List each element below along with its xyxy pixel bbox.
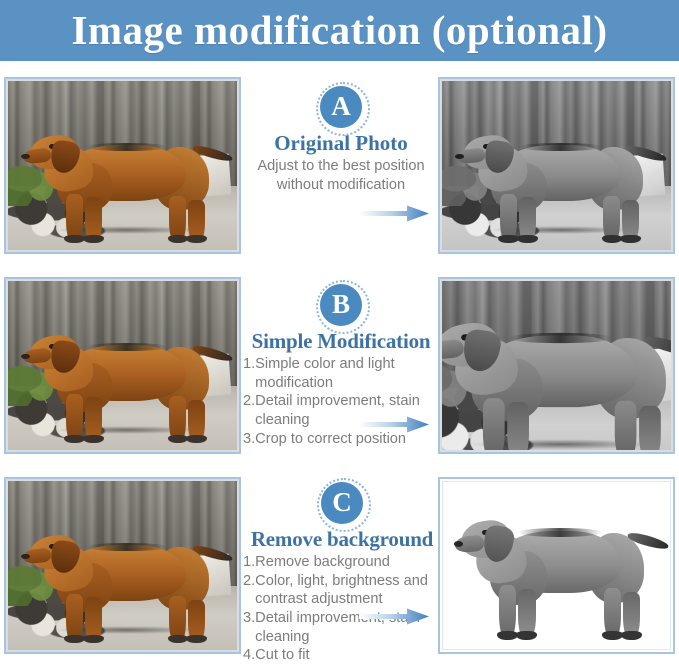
badge-a: A — [243, 84, 439, 130]
page-title: Image modification (optional) — [71, 10, 607, 51]
result-photo-c — [438, 477, 675, 654]
dachshund-illustration — [29, 125, 217, 237]
original-photo-c — [4, 477, 241, 654]
list-item-number: 2. — [243, 392, 255, 411]
list-item-number: 3. — [243, 609, 255, 628]
list-item-number: 3. — [243, 430, 255, 449]
list-item-text: Color, light, brightness and contrast ad… — [255, 572, 441, 609]
list-item-number: 1. — [243, 355, 255, 374]
body-line: without modification — [243, 176, 439, 195]
list-item: 4. Cut to fit — [243, 646, 441, 665]
section-text-c: C Remove background 1. Remove background… — [243, 480, 441, 665]
list-item-text: Remove background — [255, 553, 441, 572]
badge-ring-icon — [316, 280, 370, 334]
dachshund-illustration — [29, 325, 217, 437]
result-photo-b — [438, 277, 675, 454]
dachshund-cutout-no-background — [461, 509, 652, 633]
section-text-a: A Original Photo Adjust to the best posi… — [243, 84, 439, 194]
list-item-number: 4. — [243, 646, 255, 665]
right-arrow-icon-a — [359, 205, 429, 222]
right-arrow-icon-b — [359, 416, 429, 433]
list-item: 2. Color, light, brightness and contrast… — [243, 572, 441, 609]
body-line: Adjust to the best position — [243, 157, 439, 176]
badge-b: B — [243, 282, 439, 328]
dachshund-illustration — [29, 525, 217, 637]
badge-c: C — [243, 480, 441, 526]
dachshund-illustration-gray — [463, 125, 651, 237]
right-arrow-icon-c — [359, 608, 429, 625]
list-item-text: Simple color and light modification — [255, 355, 439, 392]
badge-ring-icon — [317, 478, 371, 532]
list-item: 1. Simple color and light modification — [243, 355, 439, 392]
list-item: 1. Remove background — [243, 553, 441, 572]
section-list-b: 1. Simple color and light modification 2… — [243, 355, 439, 448]
page-header-banner: Image modification (optional) — [0, 0, 679, 61]
list-item-number: 1. — [243, 553, 255, 572]
original-photo-a — [4, 77, 241, 254]
section-body-a: Adjust to the best position without modi… — [243, 157, 439, 194]
list-item-number: 2. — [243, 572, 255, 591]
list-item-text: Cut to fit — [255, 646, 441, 665]
dachshund-illustration-gray-cropped — [442, 310, 671, 450]
original-photo-b — [4, 277, 241, 454]
result-photo-a — [438, 77, 675, 254]
badge-ring-icon — [316, 82, 370, 136]
